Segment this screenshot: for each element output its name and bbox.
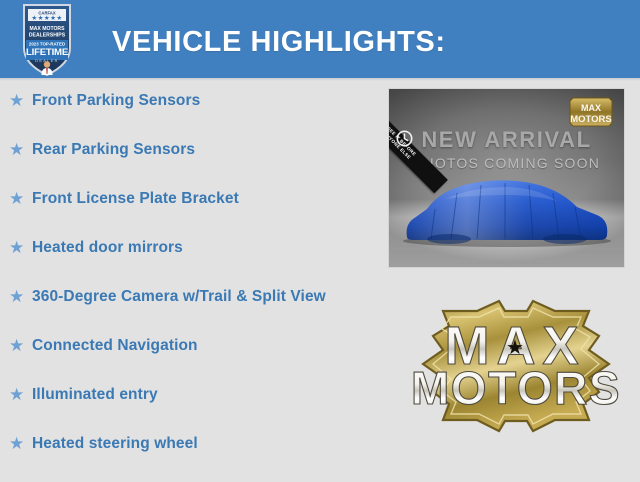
star-bullet-icon: ★ (9, 287, 24, 306)
star-bullet-icon: ★ (9, 434, 24, 453)
star-bullet-icon: ★ (9, 238, 24, 257)
star-bullet-icon: ★ (9, 189, 24, 208)
page-title: VEHICLE HIGHLIGHTS: (112, 26, 446, 59)
highlight-label: Illuminated entry (32, 384, 370, 405)
carfax-lifetime-text: LIFETIME (26, 47, 69, 58)
carfax-dealer-type: DEALERSHIPS (29, 33, 66, 39)
carfax-dealer-name: MAX MOTORS (30, 26, 66, 32)
max-motors-logo[interactable]: MAX ★ MOTORS (403, 292, 629, 464)
list-item: ★ 360-Degree Camera w/Trail & Split View (0, 286, 370, 314)
list-item: ★ Heated door mirrors (0, 237, 370, 265)
highlight-label: Rear Parking Sensors (32, 139, 370, 160)
star-bullet-icon: ★ (9, 385, 24, 404)
vehicle-highlights-list: ★ Front Parking Sensors ★ Rear Parking S… (0, 90, 370, 482)
highlight-label: Heated steering wheel (32, 433, 370, 454)
logo-line-2: MOTORS (411, 362, 621, 414)
star-bullet-icon: ★ (9, 336, 24, 355)
list-item: ★ Front Parking Sensors (0, 90, 370, 118)
highlight-label: Front License Plate Bracket (32, 188, 370, 209)
vehicle-photo-placeholder[interactable]: NEW ARRIVAL PHOTOS COMING SOON (388, 88, 625, 268)
slide-canvas: CARFAX ★★★★★ MAX MOTORS DEALERSHIPS 2023… (0, 0, 640, 480)
header-divider (0, 78, 640, 81)
list-item: ★ Front License Plate Bracket (0, 188, 370, 216)
photo-headline: NEW ARRIVAL (389, 127, 624, 153)
carfax-lifetime-dealer-badge: CARFAX ★★★★★ MAX MOTORS DEALERSHIPS 2023… (21, 2, 73, 78)
highlight-label: Front Parking Sensors (32, 90, 370, 111)
highlight-label: Heated door mirrors (32, 237, 370, 258)
logo-star-icon: ★ (506, 337, 524, 359)
carfax-stars: ★★★★★ (31, 15, 62, 22)
highlight-label: Connected Navigation (32, 335, 370, 356)
watermark-line-2: MOTORS (570, 114, 612, 125)
star-bullet-icon: ★ (9, 91, 24, 110)
max-motors-watermark: MAX MOTORS (567, 97, 615, 127)
carfax-year-rank: 2023 TOP-RATED (29, 41, 65, 46)
highlight-label: 360-Degree Camera w/Trail & Split View (32, 286, 370, 307)
watermark-line-1: MAX (581, 103, 601, 113)
list-item: ★ Connected Navigation (0, 335, 370, 363)
list-item: ★ Heated steering wheel (0, 433, 370, 461)
star-bullet-icon: ★ (9, 140, 24, 159)
list-item: ★ Rear Parking Sensors (0, 139, 370, 167)
clock-icon (396, 130, 413, 147)
list-item: ★ Illuminated entry (0, 384, 370, 412)
